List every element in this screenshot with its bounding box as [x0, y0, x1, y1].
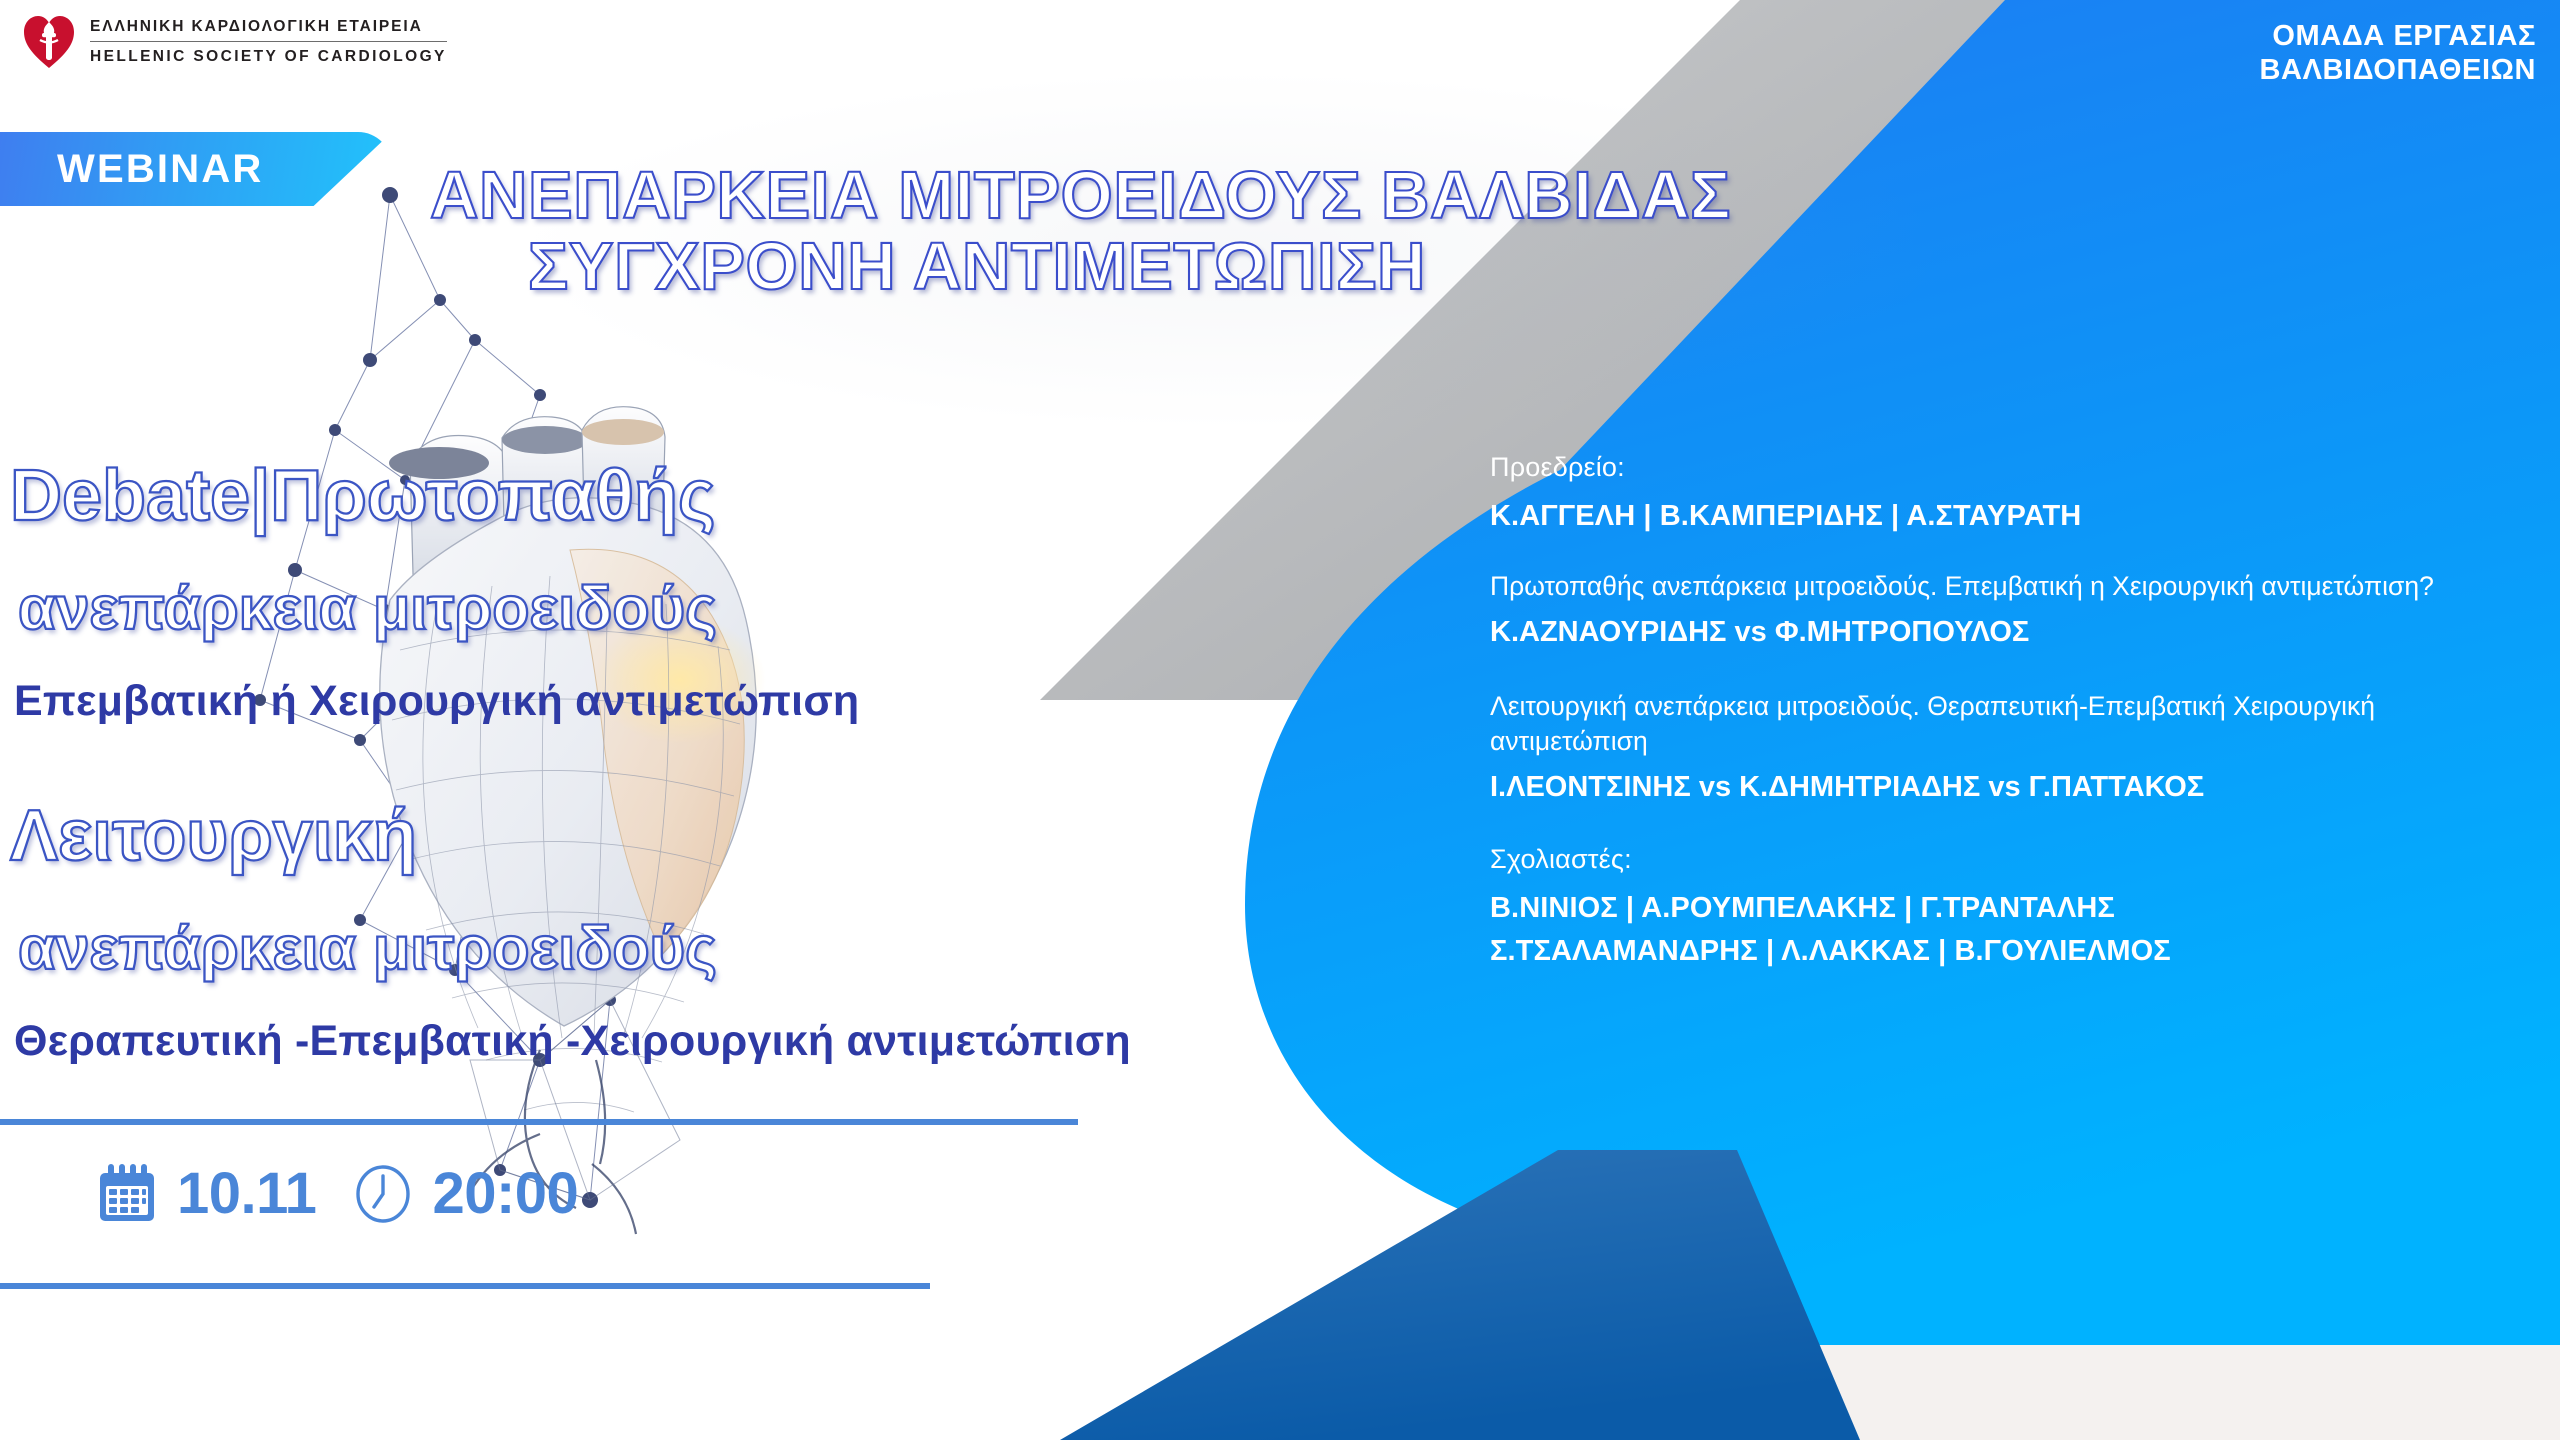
- chair-role-label: Προεδρείο:: [1490, 452, 2530, 483]
- session-1: Πρωτοπαθής ανεπάρκεια μιτροειδούς. Επεμβ…: [1490, 569, 2530, 649]
- session-1-topic: Πρωτοπαθής ανεπάρκεια μιτροειδούς. Επεμβ…: [1490, 569, 2530, 603]
- session-1-speakers: Κ.ΑΖΝΑΟΥΡΙΔΗΣ vs Φ.ΜΗΤΡΟΠΟΥΛΟΣ: [1490, 616, 2530, 649]
- debate-block-1: Debate|Πρωτοπαθής ανεπάρκεια μιτροειδούς…: [0, 460, 1180, 726]
- debate-block-2: Λειτουργική ανεπάρκεια μιτροειδούς Θεραπ…: [0, 800, 1180, 1066]
- debate-1-title-line-1: Debate|Πρωτοπαθής: [10, 460, 1180, 532]
- working-group-label: ΟΜΑΔΑ ΕΡΓΑΣΙΑΣ ΒΑΛΒΙΔΟΠΑΘΕΙΩΝ: [2259, 20, 2536, 87]
- debate-2-title-line-2: ανεπάρκεια μιτροειδούς: [18, 918, 1180, 979]
- webinar-poster: ΕΛΛΗΝΙΚΗ ΚΑΡΔΙΟΛΟΓΙΚΗ ΕΤΑΙΡΕΙΑ HELLENIC …: [0, 0, 2560, 1440]
- logo-greek-name: ΕΛΛΗΝΙΚΗ ΚΑΡΔΙΟΛΟΓΙΚΗ ΕΤΑΙΡΕΙΑ: [90, 18, 447, 42]
- hellenic-society-logo: ΕΛΛΗΝΙΚΗ ΚΑΡΔΙΟΛΟΓΙΚΗ ΕΤΑΙΡΕΙΑ HELLENIC …: [22, 14, 447, 70]
- chair-section: Προεδρείο: Κ.ΑΓΓΕΛΗ | Β.ΚΑΜΠΕΡΙΔΗΣ | Α.Σ…: [1490, 452, 2530, 533]
- logo-english-name: HELLENIC SOCIETY OF CARDIOLOGY: [90, 45, 447, 66]
- headline-line-2: ΣΥΓΧΡΟΝΗ ΑΝΤΙΜΕΤΩΠΙΣΗ: [430, 231, 2130, 302]
- heart-torch-icon: [22, 14, 76, 70]
- working-group-line-2: ΒΑΛΒΙΔΟΠΑΘΕΙΩΝ: [2259, 54, 2536, 88]
- event-time-value: 20:00: [432, 1160, 578, 1227]
- debate-1-subtitle: Επεμβατική ή Χειρουργική αντιμετώπιση: [14, 677, 1180, 726]
- commentators-role-label: Σχολιαστές:: [1490, 844, 2530, 875]
- event-time: 20:00: [352, 1160, 578, 1227]
- chair-names: Κ.ΑΓΓΕΛΗ | Β.ΚΑΜΠΕΡΙΔΗΣ | Α.ΣΤΑΥΡΑΤΗ: [1490, 500, 2530, 533]
- clock-icon: [352, 1163, 414, 1225]
- divider-bottom: [0, 1283, 930, 1289]
- commentators-line-2: Σ.ΤΣΑΛΑΜΑΝΔΡΗΣ | Λ.ΛΑΚΚΑΣ | Β.ΓΟΥΛΙΕΛΜΟΣ: [1490, 935, 2530, 968]
- session-2: Λειτουργική ανεπάρκεια μιτροειδούς. Θερα…: [1490, 689, 2530, 804]
- commentators-section: Σχολιαστές: Β.ΝΙΝΙΟΣ | Α.ΡΟΥΜΠΕΛΑΚΗΣ | Γ…: [1490, 844, 2530, 968]
- page-title: ΑΝΕΠΑΡΚΕΙΑ ΜΙΤΡΟΕΙΔΟΥΣ ΒΑΛΒΙΔΑΣ ΣΥΓΧΡΟΝΗ…: [430, 160, 2130, 302]
- calendar-icon: [95, 1162, 159, 1226]
- debate-2-subtitle: Θεραπευτική -Επεμβατική -Χειρουργική αντ…: [14, 1017, 1180, 1066]
- headline-line-1: ΑΝΕΠΑΡΚΕΙΑ ΜΙΤΡΟΕΙΔΟΥΣ ΒΑΛΒΙΔΑΣ: [430, 160, 2130, 231]
- session-2-speakers: Ι.ΛΕΟΝΤΣΙΝΗΣ vs Κ.ΔΗΜΗΤΡΙΑΔΗΣ vs Γ.ΠΑΤΤΑ…: [1490, 771, 2530, 804]
- event-date: 10.11: [95, 1160, 316, 1227]
- programme-panel: Προεδρείο: Κ.ΑΓΓΕΛΗ | Β.ΚΑΜΠΕΡΙΔΗΣ | Α.Σ…: [1490, 452, 2530, 968]
- event-datetime: 10.11 20:00: [95, 1160, 578, 1227]
- debate-1-title-line-2: ανεπάρκεια μιτροειδούς: [18, 578, 1180, 639]
- divider-top: [0, 1119, 1078, 1125]
- event-date-value: 10.11: [177, 1160, 316, 1227]
- debate-2-title-line-1: Λειτουργική: [10, 800, 1180, 872]
- webinar-badge-label: WEBINAR: [57, 147, 264, 192]
- working-group-line-1: ΟΜΑΔΑ ΕΡΓΑΣΙΑΣ: [2259, 20, 2536, 54]
- session-2-topic: Λειτουργική ανεπάρκεια μιτροειδούς. Θερα…: [1490, 689, 2530, 758]
- commentators-line-1: Β.ΝΙΝΙΟΣ | Α.ΡΟΥΜΠΕΛΑΚΗΣ | Γ.ΤΡΑΝΤΑΛΗΣ: [1490, 892, 2530, 925]
